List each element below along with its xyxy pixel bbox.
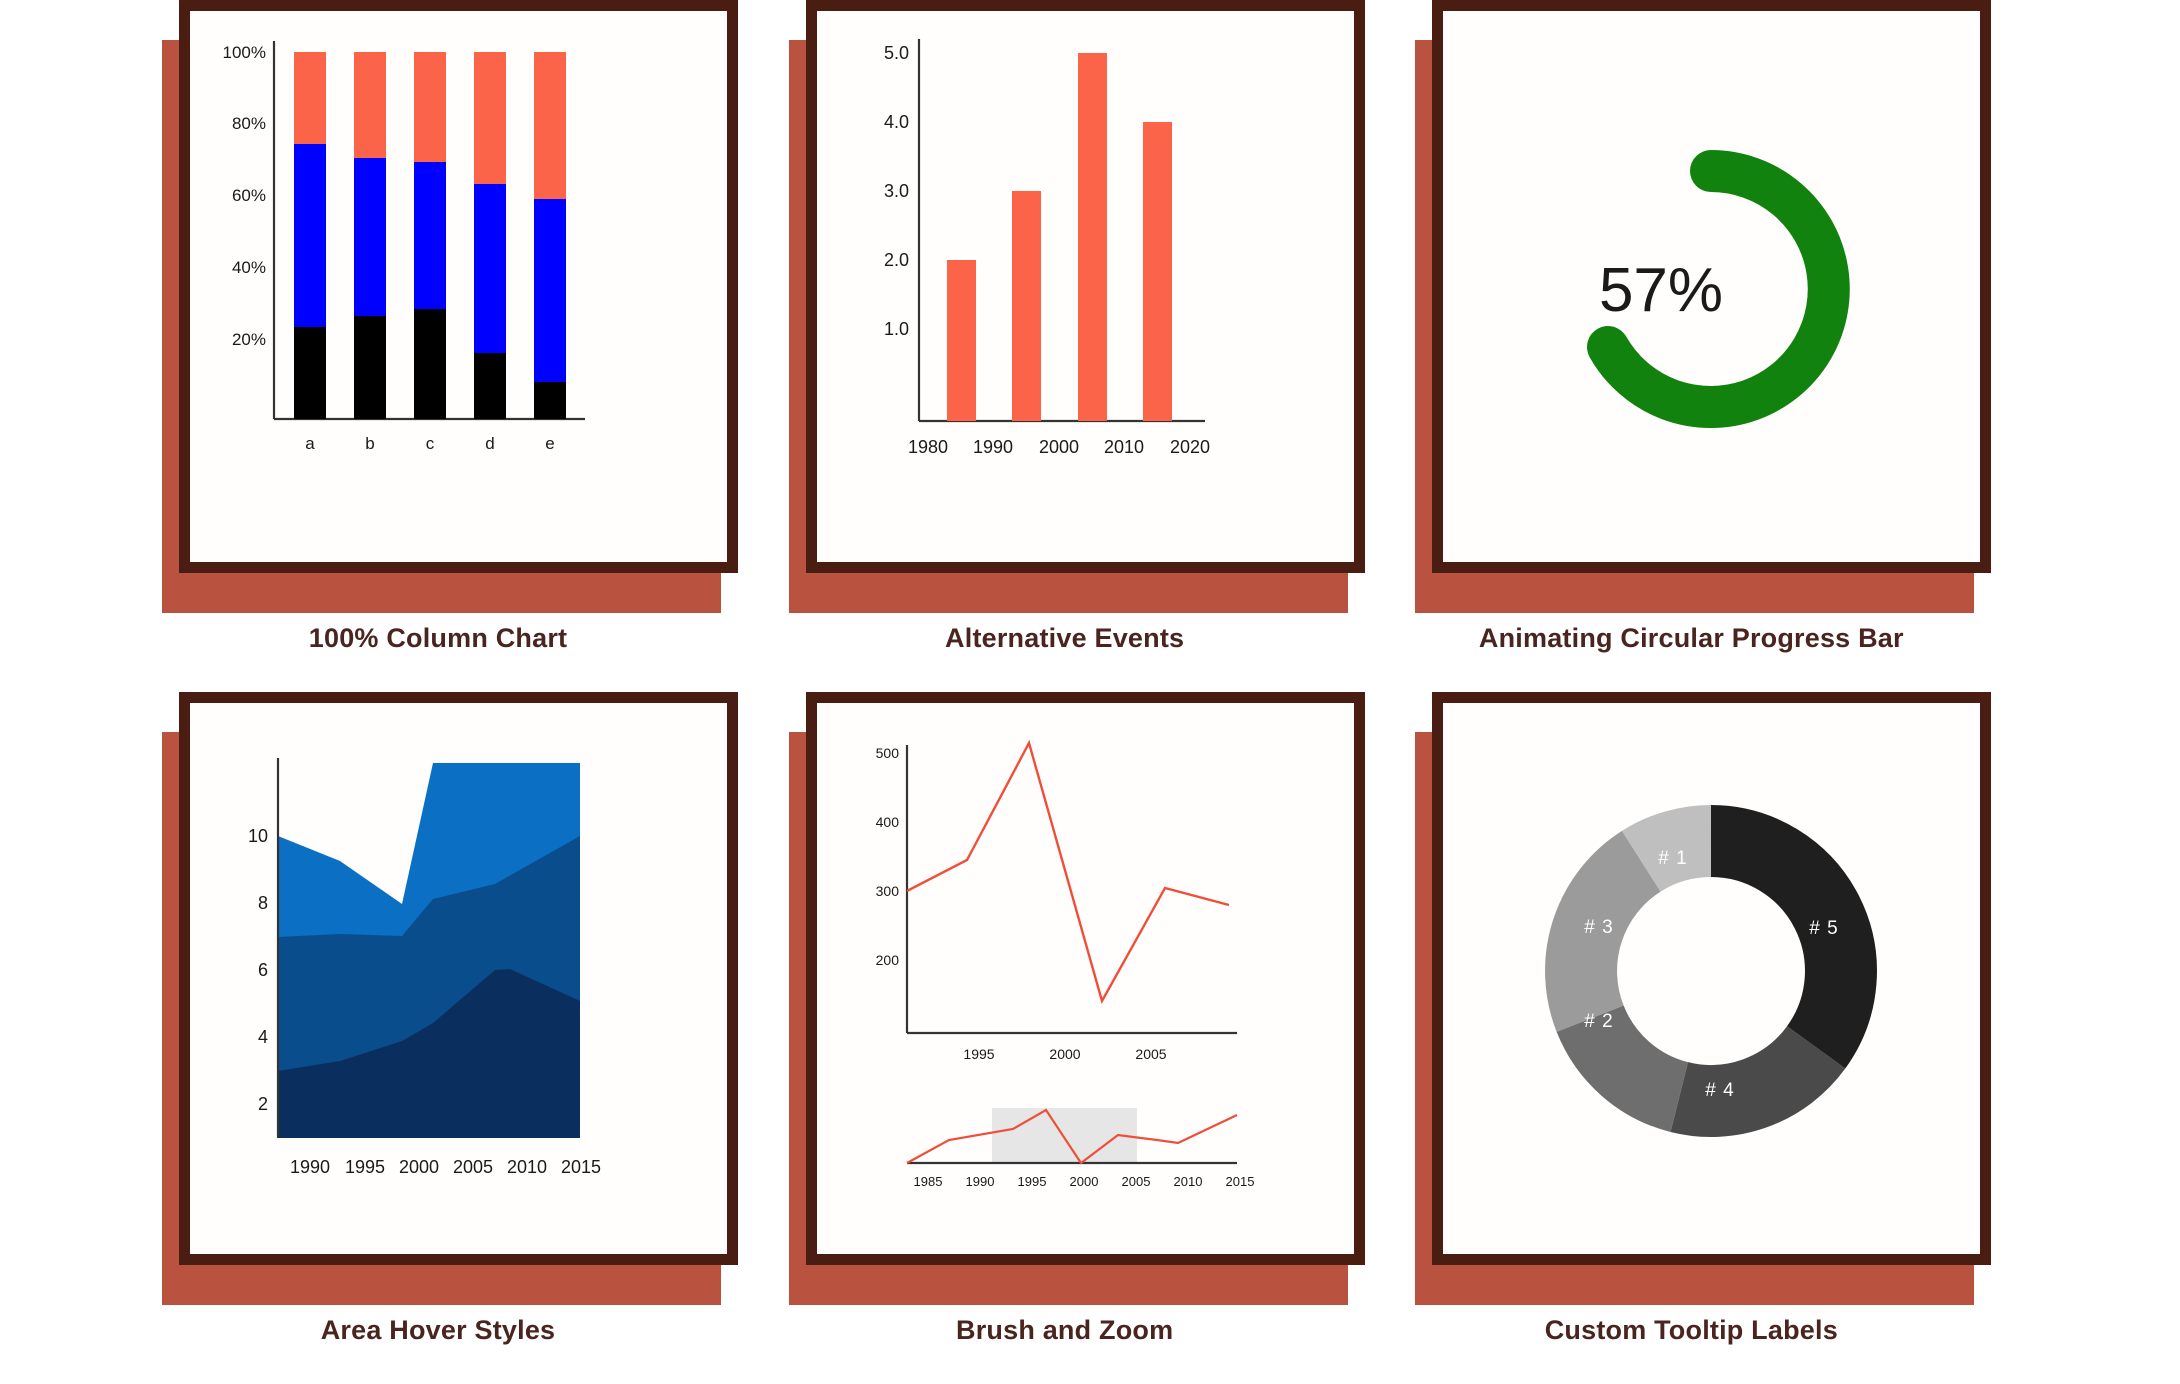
y-tick-label: 200 bbox=[875, 952, 899, 968]
x-tick-label: 1990 bbox=[973, 437, 1013, 457]
x-tick-label: 2000 bbox=[399, 1157, 439, 1177]
chart-area-progress-bar: 57% bbox=[1443, 11, 1980, 562]
bar-segment-top bbox=[474, 52, 506, 184]
x-tick-label: 2000 bbox=[1049, 1046, 1080, 1062]
chart-area-area-hover: 10 8 6 4 2 1990 1995 2000 2005 2010 2015 bbox=[190, 703, 727, 1254]
bar-segment-top bbox=[414, 52, 446, 162]
bar-segment-middle bbox=[534, 199, 566, 382]
column-chart-svg[interactable]: 100% 80% 60% 40% 20% bbox=[190, 11, 727, 562]
donut-group: # 1 # 2 # 3 # 4 # 5 bbox=[1581, 841, 1841, 1101]
y-tick-label: 100% bbox=[223, 43, 266, 62]
bar-segment-bottom bbox=[474, 353, 506, 419]
card-caption: Animating Circular Progress Bar bbox=[1403, 623, 1979, 654]
x-tick-label: 2005 bbox=[1135, 1046, 1166, 1062]
chart-gallery-grid: 100% 80% 60% 40% 20% bbox=[0, 0, 2180, 1384]
card-caption: Brush and Zoom bbox=[777, 1315, 1353, 1346]
x-tick-label: 1990 bbox=[965, 1174, 994, 1189]
y-tick-label: 10 bbox=[248, 826, 268, 846]
y-tick-label: 5.0 bbox=[884, 43, 909, 63]
card-frame-column-chart[interactable]: 100% 80% 60% 40% 20% bbox=[162, 0, 738, 581]
bar-2005[interactable] bbox=[1078, 53, 1107, 421]
bar-group-c[interactable] bbox=[414, 52, 446, 419]
x-tick-label: 1995 bbox=[1017, 1174, 1046, 1189]
card-caption: Area Hover Styles bbox=[150, 1315, 726, 1346]
card-body: 500 400 300 200 1995 2000 2005 198 bbox=[806, 692, 1365, 1265]
bar-2015[interactable] bbox=[1143, 122, 1172, 421]
bar-segment-bottom bbox=[294, 327, 326, 419]
x-tick-label: 2005 bbox=[1121, 1174, 1150, 1189]
main-line-series[interactable] bbox=[907, 743, 1229, 1001]
donut-slice-label-4: # 4 bbox=[1706, 1080, 1735, 1101]
bar-segment-bottom bbox=[414, 309, 446, 419]
y-tick-label: 2 bbox=[258, 1094, 268, 1114]
y-tick-label: 2.0 bbox=[884, 250, 909, 270]
bar-segment-middle bbox=[354, 158, 386, 316]
x-tick-label: 1995 bbox=[345, 1157, 385, 1177]
donut-slice-label-2: # 2 bbox=[1585, 1011, 1614, 1032]
x-tick-label: 1990 bbox=[290, 1157, 330, 1177]
bar-1985[interactable] bbox=[947, 260, 976, 421]
y-tick-label: 1.0 bbox=[884, 319, 909, 339]
donut-chart-svg[interactable]: # 1 # 2 # 3 # 4 # 5 bbox=[1443, 703, 1980, 1254]
x-tick-label: c bbox=[426, 434, 435, 453]
x-tick-label: 2010 bbox=[507, 1157, 547, 1177]
brush-zoom-svg[interactable]: 500 400 300 200 1995 2000 2005 198 bbox=[817, 703, 1354, 1254]
card-frame-tooltip-labels[interactable]: # 1 # 2 # 3 # 4 # 5 bbox=[1415, 692, 1991, 1273]
chart-area-brush-zoom: 500 400 300 200 1995 2000 2005 198 bbox=[817, 703, 1354, 1254]
card-caption: Custom Tooltip Labels bbox=[1403, 1315, 1979, 1346]
card-cell-tooltip-labels: # 1 # 2 # 3 # 4 # 5 Custom Tooltip Label… bbox=[1403, 692, 2030, 1384]
bar-1995[interactable] bbox=[1012, 191, 1041, 421]
card-caption: Alternative Events bbox=[777, 623, 1353, 654]
card-frame-progress-bar[interactable]: 57% bbox=[1415, 0, 1991, 581]
y-tick-label: 3.0 bbox=[884, 181, 909, 201]
x-tick-label: 2000 bbox=[1039, 437, 1079, 457]
x-tick-label: d bbox=[485, 434, 494, 453]
bar-segment-top bbox=[534, 52, 566, 199]
donut-slice-label-5: # 5 bbox=[1810, 918, 1839, 939]
card-body: 57% bbox=[1432, 0, 1991, 573]
donut-slice-3[interactable] bbox=[1581, 861, 1641, 1018]
y-tick-label: 8 bbox=[258, 893, 268, 913]
progress-percentage-label: 57% bbox=[1599, 256, 1723, 325]
donut-slice-5[interactable] bbox=[1711, 841, 1841, 1047]
y-tick-label: 4.0 bbox=[884, 112, 909, 132]
donut-slice-4[interactable] bbox=[1680, 1047, 1817, 1101]
bar-segment-middle bbox=[414, 162, 446, 309]
bar-group-a[interactable] bbox=[294, 52, 326, 419]
bar-segment-top bbox=[294, 52, 326, 144]
bar-segment-middle bbox=[474, 184, 506, 353]
card-body: # 1 # 2 # 3 # 4 # 5 bbox=[1432, 692, 1991, 1265]
area-chart-svg[interactable]: 10 8 6 4 2 1990 1995 2000 2005 2010 2015 bbox=[190, 703, 727, 1254]
x-tick-label: 2015 bbox=[561, 1157, 601, 1177]
card-frame-brush-zoom[interactable]: 500 400 300 200 1995 2000 2005 198 bbox=[789, 692, 1365, 1273]
bar-segment-bottom bbox=[534, 382, 566, 419]
x-tick-label: 2010 bbox=[1104, 437, 1144, 457]
card-cell-column-chart: 100% 80% 60% 40% 20% bbox=[150, 0, 777, 692]
card-caption: 100% Column Chart bbox=[150, 623, 726, 654]
bar-group-e[interactable] bbox=[534, 52, 566, 419]
card-body: 5.0 4.0 3.0 2.0 1.0 1980 1990 2000 20 bbox=[806, 0, 1365, 573]
bar-segment-top bbox=[354, 52, 386, 158]
chart-area-column-chart: 100% 80% 60% 40% 20% bbox=[190, 11, 727, 562]
circular-progress-svg[interactable]: 57% bbox=[1443, 11, 1980, 562]
x-tick-label: 1985 bbox=[913, 1174, 942, 1189]
bar-group-d[interactable] bbox=[474, 52, 506, 419]
donut-slice-label-1: # 1 bbox=[1659, 848, 1688, 869]
bar-segment-middle bbox=[294, 144, 326, 327]
y-tick-label: 500 bbox=[875, 745, 899, 761]
card-frame-alternative-events[interactable]: 5.0 4.0 3.0 2.0 1.0 1980 1990 2000 20 bbox=[789, 0, 1365, 581]
card-frame-area-hover[interactable]: 10 8 6 4 2 1990 1995 2000 2005 2010 2015 bbox=[162, 692, 738, 1273]
alternative-events-svg[interactable]: 5.0 4.0 3.0 2.0 1.0 1980 1990 2000 20 bbox=[817, 11, 1354, 562]
x-tick-label: 2005 bbox=[453, 1157, 493, 1177]
x-tick-label: 1980 bbox=[908, 437, 948, 457]
y-tick-label: 40% bbox=[232, 258, 266, 277]
chart-area-tooltip-labels: # 1 # 2 # 3 # 4 # 5 bbox=[1443, 703, 1980, 1254]
chart-area-alternative-events: 5.0 4.0 3.0 2.0 1.0 1980 1990 2000 20 bbox=[817, 11, 1354, 562]
donut-slice-label-3: # 3 bbox=[1585, 917, 1614, 938]
y-tick-label: 400 bbox=[875, 814, 899, 830]
x-tick-label: a bbox=[305, 434, 315, 453]
x-tick-label: 2000 bbox=[1069, 1174, 1098, 1189]
y-tick-label: 60% bbox=[232, 186, 266, 205]
card-body: 10 8 6 4 2 1990 1995 2000 2005 2010 2015 bbox=[179, 692, 738, 1265]
y-tick-label: 20% bbox=[232, 330, 266, 349]
y-tick-label: 300 bbox=[875, 883, 899, 899]
card-cell-brush-zoom: 500 400 300 200 1995 2000 2005 198 bbox=[777, 692, 1404, 1384]
y-tick-label: 6 bbox=[258, 960, 268, 980]
card-body: 100% 80% 60% 40% 20% bbox=[179, 0, 738, 573]
bar-segment-bottom bbox=[354, 316, 386, 419]
y-tick-label: 4 bbox=[258, 1027, 268, 1047]
bar-group-b[interactable] bbox=[354, 52, 386, 419]
card-cell-progress-bar: 57% Animating Circular Progress Bar bbox=[1403, 0, 2030, 692]
x-tick-label: b bbox=[365, 434, 374, 453]
card-cell-alternative-events: 5.0 4.0 3.0 2.0 1.0 1980 1990 2000 20 bbox=[777, 0, 1404, 692]
x-tick-label: e bbox=[545, 434, 554, 453]
x-tick-label: 2020 bbox=[1170, 437, 1210, 457]
x-tick-label: 2010 bbox=[1173, 1174, 1202, 1189]
brush-selection-window[interactable] bbox=[992, 1108, 1137, 1163]
x-tick-label: 1995 bbox=[963, 1046, 994, 1062]
card-cell-area-hover: 10 8 6 4 2 1990 1995 2000 2005 2010 2015… bbox=[150, 692, 777, 1384]
y-tick-label: 80% bbox=[232, 114, 266, 133]
x-tick-label: 2015 bbox=[1225, 1174, 1254, 1189]
